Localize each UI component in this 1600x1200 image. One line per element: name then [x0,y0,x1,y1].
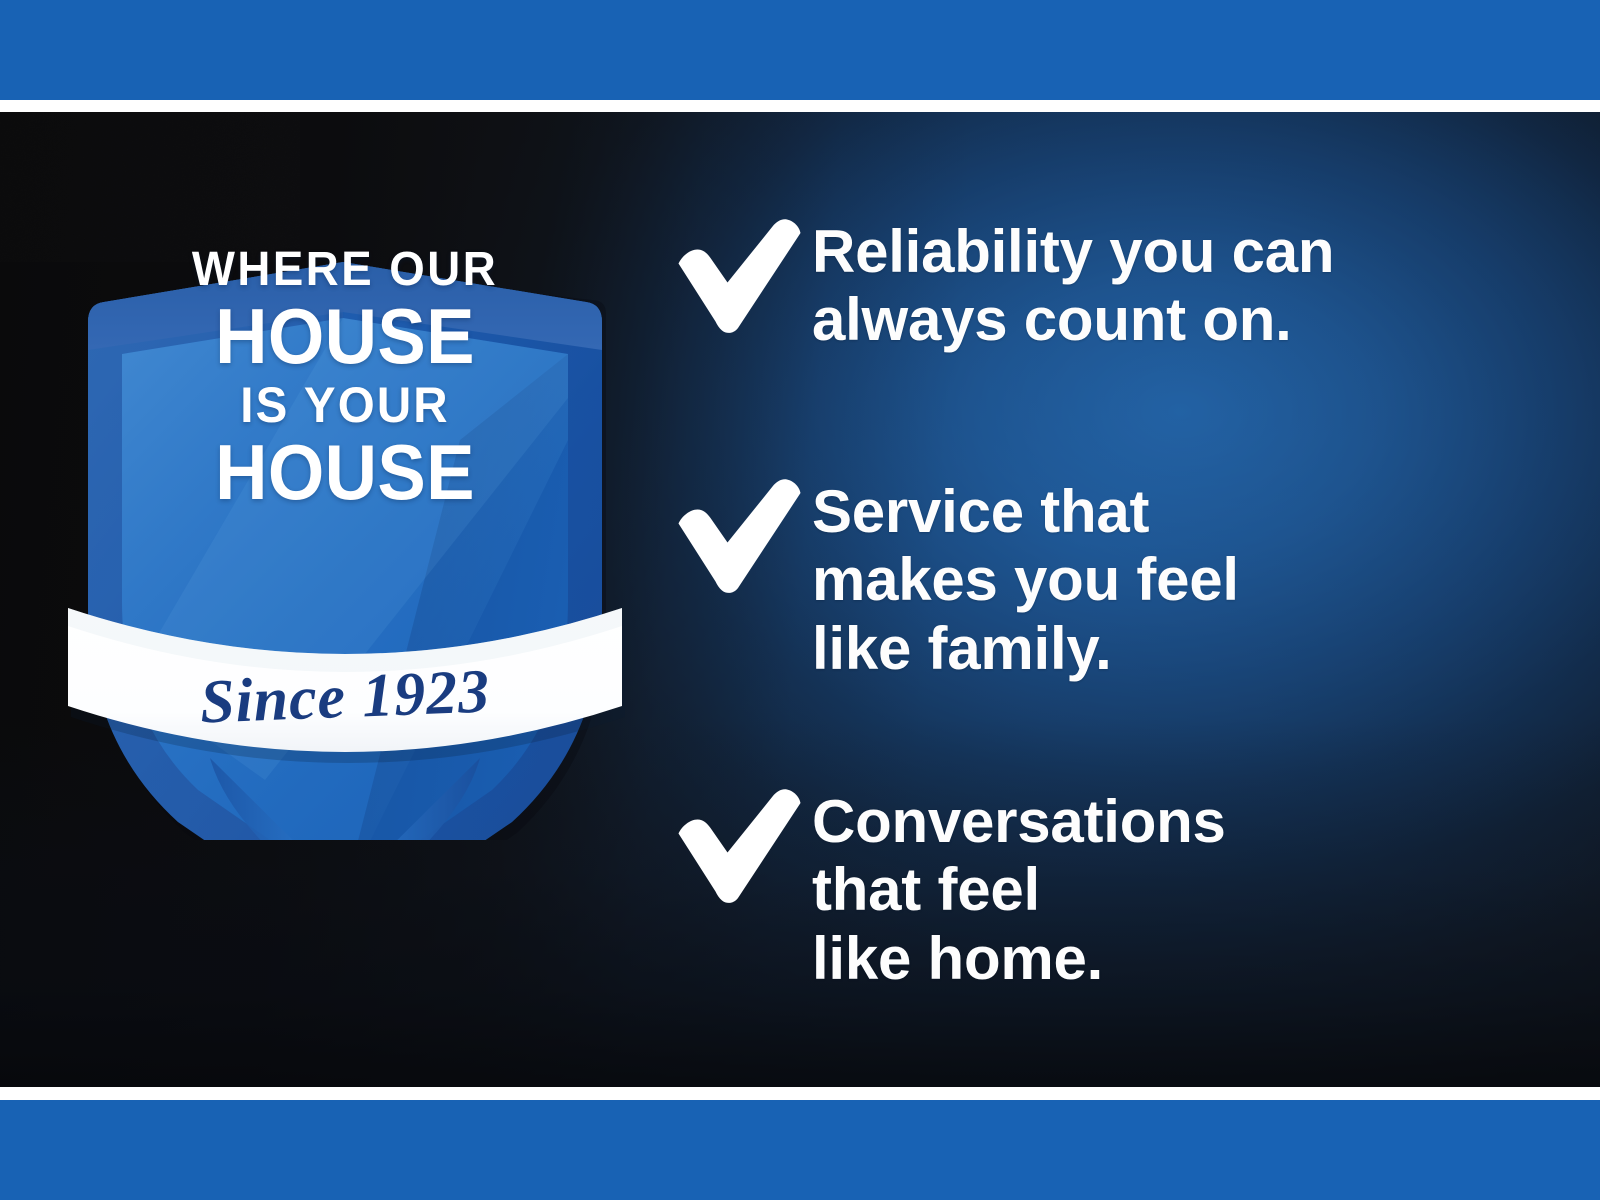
shield-tagline-line-1: WHERE OUR [74,246,616,294]
shield-badge: WHERE OUR HOUSE IS YOUR HOUSE Since 1923 [60,140,630,840]
check-icon [672,212,812,334]
shield-tagline-line-3: IS YOUR [74,380,616,430]
list-item-text: Reliability you can always count on. [812,212,1334,355]
list-item: Conversations that feel like home. [672,782,1226,993]
bottom-white-divider [0,1087,1600,1100]
shield-tagline-line-4: HOUSE [80,433,610,511]
top-white-divider [0,100,1600,112]
bottom-brand-bar [0,1100,1600,1200]
list-item-text: Service that makes you feel like family. [812,472,1239,683]
list-item: Service that makes you feel like family. [672,472,1239,683]
check-icon [672,782,812,904]
graphic-canvas: WHERE OUR HOUSE IS YOUR HOUSE Since 1923… [0,0,1600,1200]
top-brand-bar [0,0,1600,100]
value-proposition-list: Reliability you can always count on. Ser… [672,112,1532,1087]
list-item: Reliability you can always count on. [672,212,1334,355]
shield-tagline-line-2: HOUSE [80,297,610,375]
list-item-text: Conversations that feel like home. [812,782,1226,993]
check-icon [672,472,812,594]
